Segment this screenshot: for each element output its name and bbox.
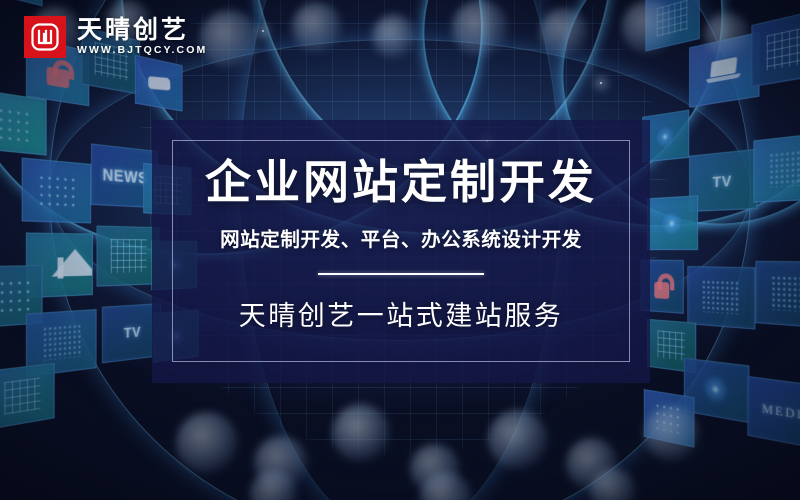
content-panel-border: 企业网站定制开发 网站定制开发、平台、办公系统设计开发 天晴创艺一站式建站服务 (172, 140, 630, 362)
tqcy-monogram-icon (24, 16, 66, 58)
subheadline: 网站定制开发、平台、办公系统设计开发 (220, 223, 582, 252)
brand-logo[interactable]: 天晴创艺 WWW.BJTQCY.COM (24, 16, 207, 58)
divider-rule (318, 273, 484, 275)
brand-logo-text: 天晴创艺 WWW.BJTQCY.COM (77, 18, 207, 56)
brand-name: 天晴创艺 (77, 18, 207, 43)
headline: 企业网站定制开发 (205, 157, 597, 209)
brand-website-url: WWW.BJTQCY.COM (77, 45, 207, 56)
promo-banner: NEWSTV TVMEDIA 天晴创艺 WWW.BJTQCY.COM 企业网站定… (0, 0, 800, 500)
tagline: 天晴创艺一站式建站服务 (239, 294, 564, 333)
content-panel: 企业网站定制开发 网站定制开发、平台、办公系统设计开发 天晴创艺一站式建站服务 (152, 120, 650, 383)
